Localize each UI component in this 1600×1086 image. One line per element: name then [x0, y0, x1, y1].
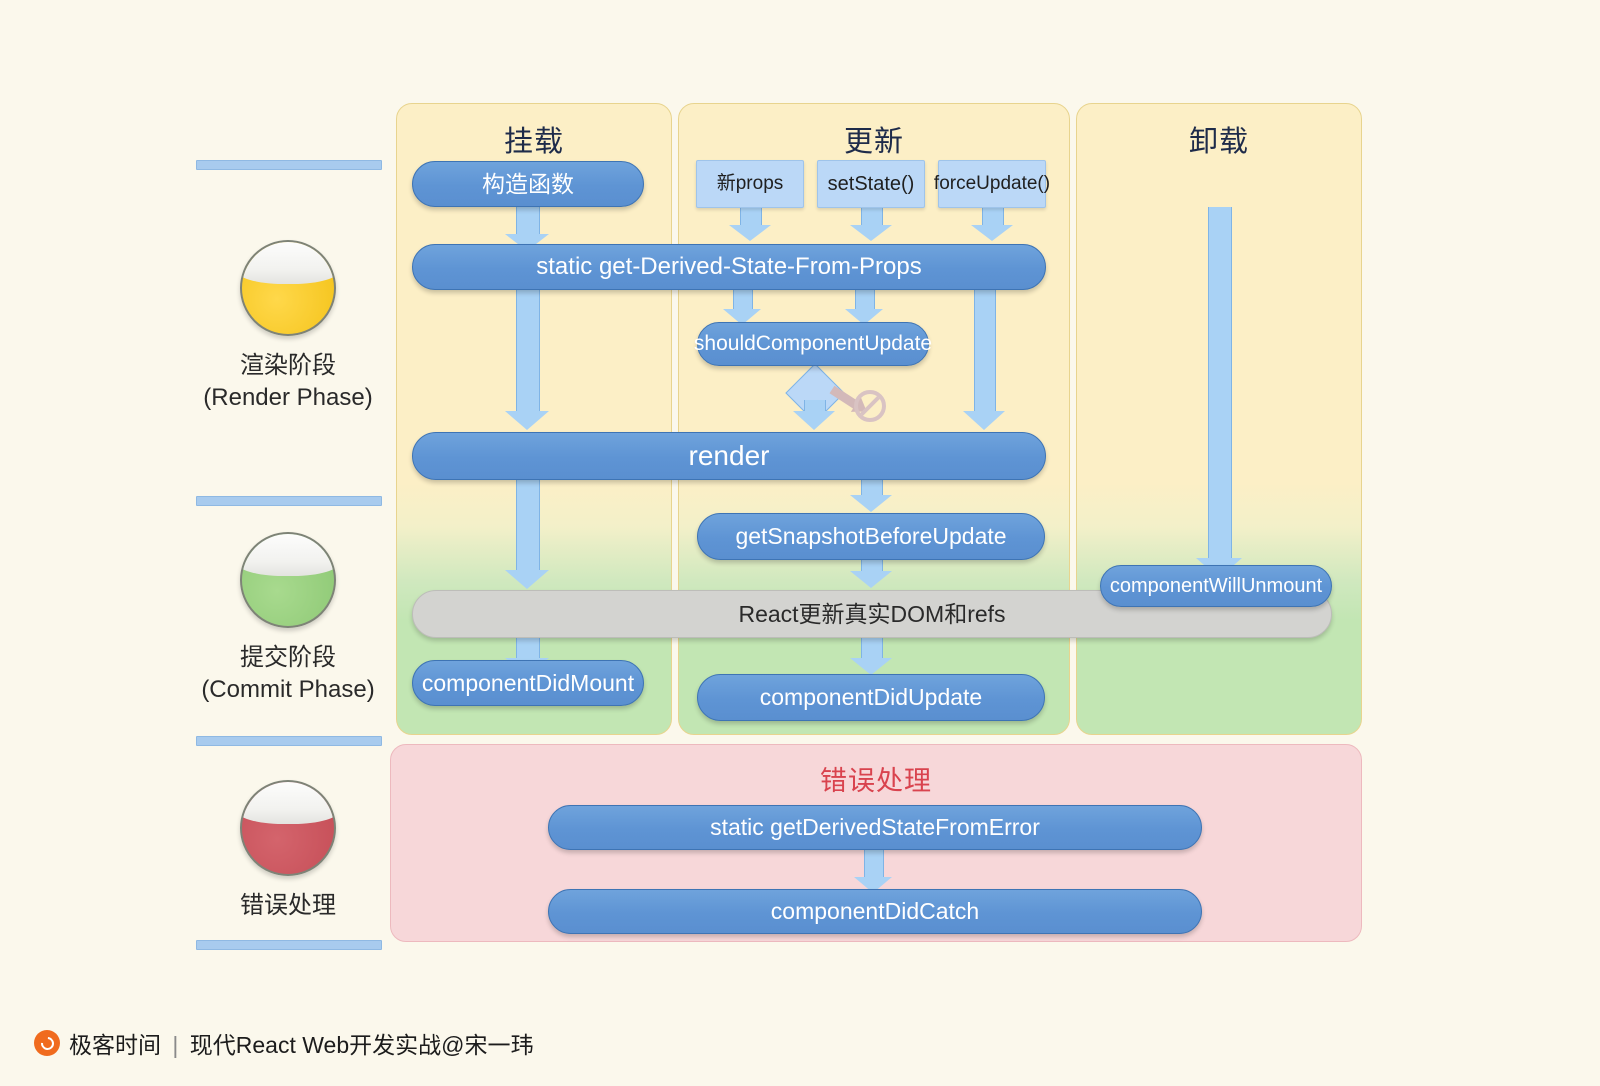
- sidebar-divider-mid: [196, 496, 382, 506]
- legend-commit-phase: 提交阶段 (Commit Phase): [196, 532, 380, 705]
- arrow-dom-to-cdu-head: [850, 658, 892, 675]
- column-mount-title: 挂载: [397, 118, 671, 160]
- arrow-newprops-to-gdsfp-shaft: [740, 206, 762, 226]
- arrow-gdsfp-to-scu-right-shaft: [855, 290, 875, 310]
- sidebar-divider-top: [196, 160, 382, 170]
- node-component-will-unmount[interactable]: componentWillUnmount: [1100, 565, 1332, 607]
- arrow-dom-to-cdm-shaft: [516, 637, 540, 659]
- footer-text: 极客时间 | 现代React Web开发实战@宋一玮: [69, 1026, 533, 1060]
- node-force-update[interactable]: forceUpdate(): [938, 160, 1046, 208]
- node-new-props[interactable]: 新props: [696, 160, 804, 208]
- node-render[interactable]: render: [412, 432, 1046, 480]
- arrow-gdsfp-to-scu-left-shaft: [733, 290, 753, 310]
- geekbang-logo-icon: [34, 1030, 60, 1056]
- legend-commit-label-cn: 提交阶段: [196, 642, 380, 674]
- commit-phase-ball-icon: [240, 532, 336, 628]
- arrow-scu-to-render-head: [793, 411, 835, 430]
- arrow-render-to-gsbu-shaft: [861, 479, 883, 496]
- legend-error-label-cn: 错误处理: [196, 890, 380, 922]
- node-component-did-update[interactable]: componentDidUpdate: [697, 674, 1045, 721]
- error-handling-ball-icon: [240, 780, 336, 876]
- panel-error-title: 错误处理: [391, 759, 1361, 798]
- node-component-did-catch[interactable]: componentDidCatch: [548, 889, 1202, 934]
- legend-render-label-cn: 渲染阶段: [196, 350, 380, 382]
- render-phase-ball-icon: [240, 240, 336, 336]
- arrow-constructor-to-gdsfp-shaft: [516, 205, 540, 235]
- arrow-gdsfe-to-cdc-shaft: [864, 850, 884, 878]
- no-entry-icon: [854, 390, 886, 422]
- arrow-dom-to-cdu-shaft: [861, 637, 883, 659]
- arrow-forceupdate-to-gdsfp-head: [971, 225, 1013, 241]
- legend-commit-label-en: (Commit Phase): [196, 674, 380, 706]
- node-get-derived-state-from-error[interactable]: static getDerivedStateFromError: [548, 805, 1202, 850]
- footer-course: 现代React Web开发实战@宋一玮: [190, 1032, 534, 1058]
- arrow-newprops-to-gdsfp-head: [729, 225, 771, 241]
- arrow-forceupdate-bypass-shaft: [974, 290, 996, 412]
- column-update-title: 更新: [679, 118, 1069, 160]
- legend-error-handling: 错误处理: [196, 780, 380, 922]
- arrow-setstate-to-gdsfp-shaft: [861, 206, 883, 226]
- arrow-gsbu-to-dom-head: [850, 571, 892, 588]
- column-unmount-title: 卸载: [1077, 118, 1361, 160]
- footer-separator: |: [172, 1032, 178, 1058]
- arrow-render-to-gsbu-head: [850, 495, 892, 512]
- arrow-forceupdate-bypass-head: [963, 411, 1005, 430]
- footer-brand: 极客时间: [69, 1032, 161, 1058]
- sidebar-divider-bottom: [196, 940, 382, 950]
- diagram-canvas: 渲染阶段 (Render Phase) 提交阶段 (Commit Phase) …: [0, 0, 1600, 1086]
- footer: 极客时间 | 现代React Web开发实战@宋一玮: [34, 1026, 533, 1060]
- legend-render-label-en: (Render Phase): [196, 382, 380, 414]
- arrow-unmount-long-shaft: [1208, 207, 1232, 559]
- node-get-snapshot-before-update[interactable]: getSnapshotBeforeUpdate: [697, 513, 1045, 560]
- arrow-mount-gdsfp-to-render-head: [505, 411, 549, 430]
- node-get-derived-state-from-props[interactable]: static get-Derived-State-From-Props: [412, 244, 1046, 290]
- node-should-component-update[interactable]: shouldComponentUpdate: [697, 322, 929, 366]
- arrow-mount-render-to-dom-shaft: [516, 479, 540, 571]
- arrow-mount-gdsfp-to-render-shaft: [516, 290, 540, 412]
- arrow-forceupdate-to-gdsfp-shaft: [982, 206, 1004, 226]
- node-set-state[interactable]: setState(): [817, 160, 925, 208]
- arrow-mount-render-to-dom-head: [505, 570, 549, 589]
- node-constructor[interactable]: 构造函数: [412, 161, 644, 207]
- node-component-did-mount[interactable]: componentDidMount: [412, 660, 644, 706]
- sidebar-divider-low: [196, 736, 382, 746]
- arrow-setstate-to-gdsfp-head: [850, 225, 892, 241]
- legend-render-phase: 渲染阶段 (Render Phase): [196, 240, 380, 413]
